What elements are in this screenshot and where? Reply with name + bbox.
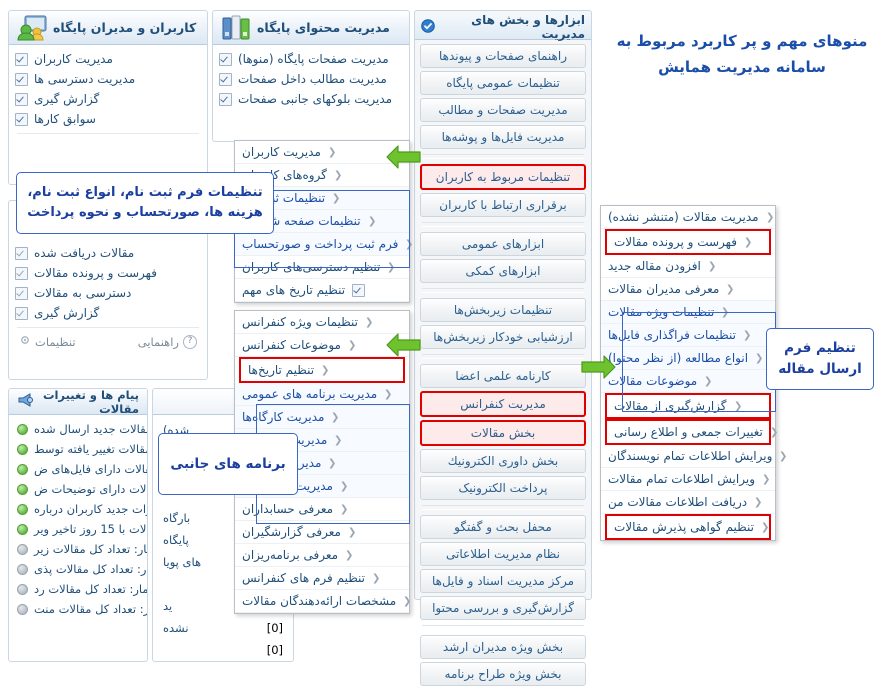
menu-item-label: فرم ثبت پرداخت و صورتحساب xyxy=(242,237,398,251)
panel-messages-title: پیام ها و تغییرات مقالات xyxy=(40,388,139,416)
menu-item-label: معرفی گزارشگیران xyxy=(242,525,341,539)
menu-item-label: ویرایش اطلاعات تمام مقالات xyxy=(608,472,755,486)
list-item[interactable]: مقالات دریافت شده xyxy=(9,243,207,263)
status-dot-icon xyxy=(17,484,28,495)
chevron-right-icon: ❯ xyxy=(770,427,778,438)
chevron-right-icon: ❯ xyxy=(743,330,751,341)
panel-messages-changes: پیام ها و تغییرات مقالات مقالات جدید ارس… xyxy=(8,388,148,662)
message-list-item[interactable]: مقالات جدید ارسال شده xyxy=(9,419,147,439)
chevron-right-icon: ❯ xyxy=(328,147,336,158)
panel-users-admins-title: کاربران و مدیران پایگاه xyxy=(53,20,196,35)
list-item[interactable]: گزارش گیری xyxy=(9,89,207,109)
divider xyxy=(422,354,584,359)
item-label: گزارش گیری xyxy=(34,92,99,106)
menu-item-label: تنظیمات ویژه مقالات xyxy=(608,305,714,319)
divider xyxy=(422,288,584,293)
checkbox-icon[interactable] xyxy=(15,53,28,66)
articles-menu-item[interactable]: ❯تنظیمات فراگذاری فایل‌ها xyxy=(601,324,775,347)
panel-users-admins-header: کاربران و مدیران پایگاه xyxy=(9,11,207,45)
note-registration-text: تنظیمات فرم ثبت نام، انواع ثبت نام، هزین… xyxy=(27,183,263,223)
list-item[interactable]: فهرست و پرونده مقالات xyxy=(9,263,207,283)
menu-item-label: انواع مطالعه (از نظر محتوا) xyxy=(608,351,748,365)
divider xyxy=(422,222,584,227)
chevron-right-icon: ❯ xyxy=(334,170,342,181)
item-label: گزارش گیری xyxy=(34,306,99,320)
admin-tool-button[interactable]: ارزشیابی خودکار زیربخش‌ها xyxy=(420,325,586,349)
admin-tool-button[interactable]: تنظیمات زیربخش‌ها xyxy=(420,298,586,322)
note-article-form-text: تنظیم فرم ارسال مقاله xyxy=(778,338,862,380)
admin-tool-button[interactable]: محفل بحث و گفتگو xyxy=(420,515,586,539)
chevron-right-icon: ❯ xyxy=(726,284,734,295)
page-title-line1: منوهای مهم و پر کاربرد مربوط به xyxy=(600,28,884,54)
admin-tools-title-row: ابزارها و بخش های مدیریت xyxy=(415,15,591,40)
checkbox-icon[interactable] xyxy=(15,73,28,86)
checkbox-icon[interactable] xyxy=(15,113,28,126)
message-list-item[interactable]: مقالات دارای توضیحات ض xyxy=(9,479,147,499)
chevron-right-icon: ❯ xyxy=(368,216,376,227)
chevron-right-icon: ❯ xyxy=(332,193,340,204)
admin-tool-button[interactable]: برقراری ارتباط با کاربران xyxy=(420,193,586,217)
users-monitor-icon xyxy=(17,15,47,41)
message-label: آمار: تعداد کل مقالات پذی xyxy=(34,562,148,576)
help-label: راهنمایی xyxy=(138,335,179,349)
admin-tool-button[interactable]: پرداخت الکترونیک xyxy=(420,476,586,500)
settings-link-group[interactable]: تنظیمات xyxy=(19,334,76,349)
articles-menu-item[interactable]: ❯موضوعات مقالات xyxy=(601,370,775,393)
checkbox-icon[interactable] xyxy=(219,93,232,106)
menu-item-label: تنظیم تاریخ‌ها xyxy=(248,363,314,377)
list-item[interactable]: مدیریت صفحات پایگاه (منوها) xyxy=(213,49,409,69)
admin-tool-button[interactable]: گزارش‌گیری و بررسی محتوا xyxy=(420,596,586,620)
chevron-right-icon: ❯ xyxy=(334,435,342,446)
chevron-right-icon: ❯ xyxy=(721,307,729,318)
menu-item-label: تنظیم دسترسی‌های کاربران xyxy=(242,260,380,274)
articles-menu-item[interactable]: ❯ویرایش اطلاعات تمام مقالات xyxy=(601,468,775,491)
menu-item-label: تنظیم گواهی پذیرش مقالات xyxy=(614,520,754,534)
menu-item-label: مدیریت برنامه های عمومی xyxy=(242,387,377,401)
admin-tools-groups: راهنمای صفحات و پیوندهاتنظیمات عمومی پای… xyxy=(420,44,586,686)
articles-menu-item[interactable]: ❯دریافت اطلاعات مقالات من xyxy=(601,491,775,514)
menu-item-label: دریافت اطلاعات مقالات من xyxy=(608,495,747,509)
menu-item-label: گزارش‌گیری از مقالات xyxy=(614,399,727,413)
admin-tool-button[interactable]: راهنمای صفحات و پیوندها xyxy=(420,44,586,68)
divider xyxy=(17,327,199,328)
panel-users-admins-body: مدیریت کاربران مدیریت دسترسی ها گزارش گی… xyxy=(9,45,207,142)
menu-item-label: ویرایش اطلاعات تمام نویسندگان xyxy=(608,449,772,463)
message-list-item[interactable]: مقالات با 15 روز تاخیر ویر xyxy=(9,519,147,539)
chevron-right-icon: ❯ xyxy=(384,389,392,400)
message-list-item[interactable]: مقالات تغییر یافته توسط xyxy=(9,439,147,459)
chevron-right-icon: ❯ xyxy=(331,412,339,423)
chevron-right-icon: ❯ xyxy=(321,365,329,376)
count-label: های پویا xyxy=(163,555,201,569)
page-title: منوهای مهم و پر کاربرد مربوط به سامانه م… xyxy=(600,28,884,81)
panel-messages-header: پیام ها و تغییرات مقالات xyxy=(9,389,147,415)
admin-tool-button[interactable]: تنظیمات عمومی پایگاه xyxy=(420,71,586,95)
note-side-programs: برنامه های جانبی xyxy=(158,433,298,495)
chevron-right-icon: ❯ xyxy=(403,596,411,607)
list-item[interactable]: گزارش گیری xyxy=(9,303,207,323)
checkbox-icon[interactable] xyxy=(219,73,232,86)
conference-menu-item[interactable]: ❯معرفی گزارشگیران xyxy=(235,521,409,544)
menu-item-label: تنظیمات فراگذاری فایل‌ها xyxy=(608,328,736,342)
menu-item-label: تنظیم فرم های کنفرانس xyxy=(242,571,365,585)
chevron-right-icon: ❯ xyxy=(345,550,353,561)
menu-item-label: فهرست و پرونده مقالات xyxy=(614,235,737,249)
admin-tools-menu: ابزارها و بخش های مدیریت راهنمای صفحات و… xyxy=(414,10,592,600)
divider xyxy=(17,133,199,134)
admin-tool-button[interactable]: مدیریت کنفرانس xyxy=(420,391,586,417)
item-label: مدیریت بلوکهای جانبی صفحات xyxy=(238,92,392,106)
articles-menu-item[interactable]: ❯گزارش‌گیری از مقالات xyxy=(605,393,771,419)
check-circle-icon xyxy=(421,19,435,36)
menu-item-label: افزودن مقاله جدید xyxy=(608,259,701,273)
count-label: ید xyxy=(163,599,172,613)
menu-item-label: تغییرات جمعی و اطلاع رسانی xyxy=(614,425,763,439)
count-badge: [0] xyxy=(267,621,283,635)
note-side-programs-text: برنامه های جانبی xyxy=(170,454,285,475)
conference-menu-item[interactable]: ❯مدیریت برنامه های عمومی xyxy=(235,383,409,406)
chevron-right-icon: ❯ xyxy=(340,504,348,515)
status-dot-icon xyxy=(17,604,28,615)
chevron-right-icon: ❯ xyxy=(744,237,752,248)
gear-icon xyxy=(19,334,31,349)
message-label: آمار: تعداد کل مقالات منت xyxy=(34,602,148,616)
divider xyxy=(422,625,584,630)
conference-menu-item[interactable]: ❯مشخصات ارائه‌دهندگان مقالات xyxy=(235,590,409,613)
divider xyxy=(422,505,584,510)
checkbox-icon[interactable] xyxy=(219,53,232,66)
message-list-item[interactable]: آمار: تعداد کل مقالات منت xyxy=(9,599,147,619)
chevron-right-icon: ❯ xyxy=(755,353,763,364)
chevron-right-icon: ❯ xyxy=(734,401,742,412)
message-list-item[interactable]: نظرات جدید کاربران درباره xyxy=(9,499,147,519)
count-label: پایگاه xyxy=(163,533,189,547)
menu-item-label: موضوعات کنفرانس xyxy=(242,338,341,352)
list-item[interactable]: دسترسی به مقالات xyxy=(9,283,207,303)
status-dot-icon xyxy=(17,464,28,475)
page-title-line2: سامانه مدیریت همایش xyxy=(600,54,884,80)
item-label: مدیریت کاربران xyxy=(34,52,113,66)
articles-menu-list: ❯مدیریت مقالات (متنشر نشده)❯فهرست و پرون… xyxy=(601,206,775,540)
articles-dropdown: ❯مدیریت مقالات (متنشر نشده)❯فهرست و پرون… xyxy=(600,205,776,541)
chevron-right-icon: ❯ xyxy=(761,522,769,533)
panel-content-management: مدیریت محتوای پایگاه مدیریت صفحات پایگاه… xyxy=(212,10,410,142)
message-list-item[interactable]: آمار: تعداد کل مقالات زیر xyxy=(9,539,147,559)
admin-tool-button[interactable]: بخش مقالات xyxy=(420,420,586,446)
conference-menu-item[interactable]: ❯تنظیمات ویژه کنفرانس xyxy=(235,311,409,334)
admin-tool-button[interactable]: کارنامه علمی اعضا xyxy=(420,364,586,388)
menu-item-label: مدیریت کارگاه‌ها xyxy=(242,410,324,424)
panel-content-header: مدیریت محتوای پایگاه xyxy=(213,11,409,45)
arrow-right-articles xyxy=(580,353,616,382)
users-menu-item[interactable]: تنظیم تاریخ های مهم xyxy=(235,279,409,302)
chevron-right-icon: ❯ xyxy=(405,239,413,250)
note-registration-settings: تنظیمات فرم ثبت نام، انواع ثبت نام، هزین… xyxy=(16,172,274,234)
checkbox-icon[interactable] xyxy=(15,287,28,300)
chevron-right-icon: ❯ xyxy=(328,458,336,469)
list-item[interactable]: مدیریت کاربران xyxy=(9,49,207,69)
chevron-right-icon: ❯ xyxy=(779,451,787,462)
articles-menu-item[interactable]: ❯معرفی مدیران مقالات xyxy=(601,278,775,301)
conference-menu-item[interactable]: ❯تنظیم تاریخ‌ها xyxy=(239,357,405,383)
megaphone-icon xyxy=(17,392,34,411)
help-link-group[interactable]: ? راهنمایی xyxy=(138,335,197,349)
help-icon: ? xyxy=(183,335,197,349)
admin-tools-title: ابزارها و بخش های مدیریت xyxy=(441,13,585,41)
item-label: مدیریت دسترسی ها xyxy=(34,72,135,86)
menu-item-label: تنظیم تاریخ های مهم xyxy=(242,283,345,297)
message-list-item[interactable]: مقالات دارای فایل‌های ض xyxy=(9,459,147,479)
list-item[interactable]: سوابق کارها xyxy=(9,109,207,129)
chevron-right-icon: ❯ xyxy=(365,317,373,328)
checkbox-icon xyxy=(352,284,365,297)
message-label: آمار: تعداد کل مقالات زیر xyxy=(34,542,148,556)
conference-menu-item[interactable]: ❯تنظیم فرم های کنفرانس xyxy=(235,567,409,590)
menu-item-label: مدیریت کاربران xyxy=(242,145,321,159)
status-dot-icon xyxy=(17,504,28,515)
item-label: مدیریت مطالب داخل صفحات xyxy=(238,72,387,86)
status-dot-icon xyxy=(17,444,28,455)
admin-tool-button[interactable]: ابزارهای کمکی xyxy=(420,259,586,283)
checkbox-icon[interactable] xyxy=(15,267,28,280)
menu-item-label: معرفی برنامه‌ریزان xyxy=(242,548,338,562)
chevron-right-icon: ❯ xyxy=(348,340,356,351)
admin-tool-button[interactable]: مدیریت فایل‌ها و پوشه‌ها xyxy=(420,125,586,149)
item-label: مقالات دریافت شده xyxy=(34,246,134,260)
panel-messages-body: مقالات جدید ارسال شدهمقالات تغییر یافته … xyxy=(9,415,147,623)
articles-menu-item[interactable]: ❯مدیریت مقالات (متنشر نشده) xyxy=(601,206,775,229)
menu-item-label: معرفی حسابداران xyxy=(242,502,333,516)
item-label: دسترسی به مقالات xyxy=(34,286,131,300)
status-dot-icon xyxy=(17,564,28,575)
conference-menu-item[interactable]: ❯مدیریت کارگاه‌ها xyxy=(235,406,409,429)
arrow-left-users-settings xyxy=(386,143,422,172)
item-label: فهرست و پرونده مقالات xyxy=(34,266,157,280)
users-menu-item[interactable]: ❯فرم ثبت پرداخت و صورتحساب xyxy=(235,233,409,256)
admin-tool-button[interactable]: مرکز مدیریت اسناد و فایل‌ها xyxy=(420,569,586,593)
chevron-right-icon: ❯ xyxy=(372,573,380,584)
count-badge: [0] xyxy=(267,643,283,657)
message-label: نظرات جدید کاربران درباره xyxy=(34,502,148,516)
chevron-right-icon: ❯ xyxy=(340,481,348,492)
menu-item-label: موضوعات مقالات xyxy=(608,374,697,388)
chevron-right-icon: ❯ xyxy=(348,527,356,538)
admin-tool-button[interactable]: نظام مدیریت اطلاعاتی xyxy=(420,542,586,566)
message-label: آمار: تعداد کل مقالات رد xyxy=(34,582,148,596)
admin-tool-button[interactable]: بخش داوری الکترونیك xyxy=(420,449,586,473)
admin-tool-button[interactable]: بخش ویژه مدیران ارشد xyxy=(420,635,586,659)
message-label: مقالات با 15 روز تاخیر ویر xyxy=(34,522,148,536)
status-dot-icon xyxy=(17,424,28,435)
panel-users-admins: کاربران و مدیران پایگاه مدیریت کاربران م… xyxy=(8,10,208,185)
articles-menu-item[interactable]: ❯انواع مطالعه (از نظر محتوا) xyxy=(601,347,775,370)
users-menu-item[interactable]: ❯تنظیم دسترسی‌های کاربران xyxy=(235,256,409,279)
checkbox-icon[interactable] xyxy=(15,93,28,106)
articles-menu-item[interactable]: ❯ویرایش اطلاعات تمام نویسندگان xyxy=(601,445,775,468)
folders-icon xyxy=(221,15,251,41)
count-row[interactable]: [0] xyxy=(153,639,293,661)
message-label: مقالات جدید ارسال شده xyxy=(34,422,148,436)
menu-item-label: مدیریت مقالات (متنشر نشده) xyxy=(608,210,759,224)
panel-content-title: مدیریت محتوای پایگاه xyxy=(257,20,390,35)
list-item[interactable]: مدیریت مطالب داخل صفحات xyxy=(213,69,409,89)
articles-menu-item[interactable]: ❯تغییرات جمعی و اطلاع رسانی xyxy=(605,419,771,445)
chevron-right-icon: ❯ xyxy=(766,212,774,223)
status-dot-icon xyxy=(17,524,28,535)
menu-item-label: معرفی مدیران مقالات xyxy=(608,282,719,296)
admin-tool-button[interactable]: بخش ویژه طراح برنامه xyxy=(420,662,586,686)
articles-menu-item[interactable]: ❯تنظیم گواهی پذیرش مقالات xyxy=(605,514,771,540)
articles-menu-item[interactable]: ❯افزودن مقاله جدید xyxy=(601,255,775,278)
list-item[interactable]: مدیریت بلوکهای جانبی صفحات xyxy=(213,89,409,109)
divider xyxy=(422,154,584,159)
admin-tool-button[interactable]: تنظیمات مربوط به کاربران xyxy=(420,164,586,190)
admin-tool-button[interactable]: مدیریت صفحات و مطالب xyxy=(420,98,586,122)
chevron-right-icon: ❯ xyxy=(704,376,712,387)
chevron-right-icon: ❯ xyxy=(762,474,770,485)
chevron-right-icon: ❯ xyxy=(387,262,395,273)
checkbox-icon[interactable] xyxy=(15,307,28,320)
checkbox-icon[interactable] xyxy=(15,247,28,260)
message-label: مقالات تغییر یافته توسط xyxy=(34,442,148,456)
count-label: نشده xyxy=(163,621,189,635)
articles-menu-item[interactable]: ❯تنظیمات ویژه مقالات xyxy=(601,301,775,324)
item-label: سوابق کارها xyxy=(34,112,96,126)
conference-menu-item[interactable]: ❯معرفی حسابداران xyxy=(235,498,409,521)
message-label: مقالات دارای توضیحات ض xyxy=(34,482,148,496)
users-menu-item[interactable]: ❯مدیریت کاربران xyxy=(235,141,409,164)
chevron-right-icon: ❯ xyxy=(708,261,716,272)
count-row[interactable]: [0]نشده xyxy=(153,617,293,639)
chevron-right-icon: ❯ xyxy=(754,497,762,508)
status-dot-icon xyxy=(17,544,28,555)
conference-menu-item[interactable]: ❯موضوعات کنفرانس xyxy=(235,334,409,357)
message-list-item[interactable]: آمار: تعداد کل مقالات رد xyxy=(9,579,147,599)
message-label: مقالات دارای فایل‌های ض xyxy=(34,462,148,476)
articles-menu-item[interactable]: ❯فهرست و پرونده مقالات xyxy=(605,229,771,255)
admin-tool-button[interactable]: ابزارهای عمومی xyxy=(420,232,586,256)
panel-content-body: مدیریت صفحات پایگاه (منوها) مدیریت مطالب… xyxy=(213,45,409,113)
status-dot-icon xyxy=(17,584,28,595)
arrow-left-conference xyxy=(386,331,422,360)
count-label: بارگاه xyxy=(163,511,190,525)
note-article-form: تنظیم فرم ارسال مقاله xyxy=(766,328,874,390)
list-item[interactable]: مدیریت دسترسی ها xyxy=(9,69,207,89)
menu-item-label: تنظیمات ویژه کنفرانس xyxy=(242,315,358,329)
settings-label: تنظیمات xyxy=(35,335,76,349)
conference-menu-item[interactable]: ❯معرفی برنامه‌ریزان xyxy=(235,544,409,567)
item-label: مدیریت صفحات پایگاه (منوها) xyxy=(238,52,389,66)
menu-item-label: مشخصات ارائه‌دهندگان مقالات xyxy=(242,594,396,608)
message-list-item[interactable]: آمار: تعداد کل مقالات پذی xyxy=(9,559,147,579)
